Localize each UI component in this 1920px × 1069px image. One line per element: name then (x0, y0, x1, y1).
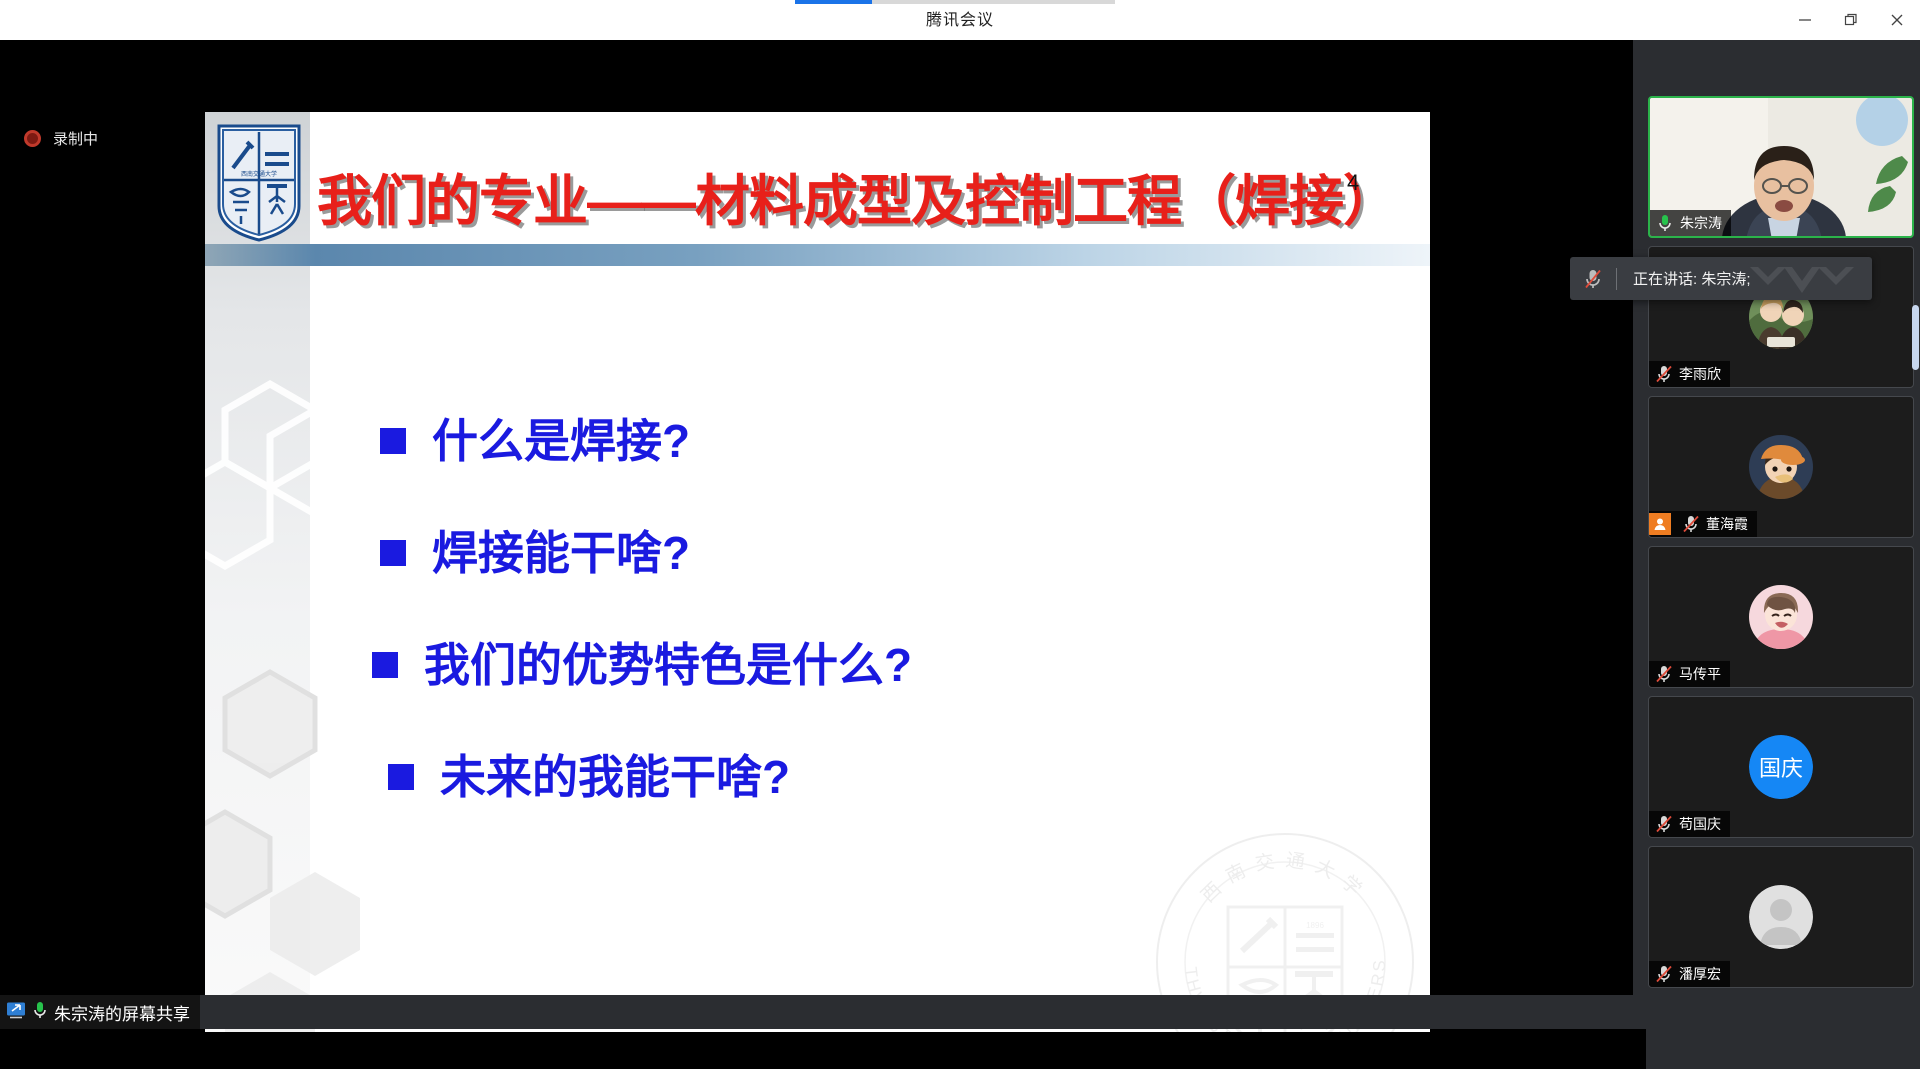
participant-name-chip: 马传平 (1649, 661, 1730, 687)
bullet-text: 我们的优势特色是什么? (424, 629, 912, 695)
svg-text:西南交通大学: 西南交通大学 (241, 170, 277, 178)
host-badge-icon (1649, 513, 1671, 535)
bullet-text: 未来的我能干啥? (440, 741, 790, 807)
participant-name-chip: 董海霞 (1649, 511, 1757, 537)
window-title-bar: 腾讯会议 (0, 0, 1920, 40)
screen-share-icon (6, 1001, 26, 1024)
recording-indicator: 录制中 (24, 128, 98, 149)
slide-title: 我们的专业——材料成型及控制工程（焊接） (317, 156, 1327, 246)
participant-name: 朱宗涛 (1680, 213, 1722, 233)
bullet-item: 我们的优势特色是什么? (372, 606, 1380, 718)
mic-muted-icon (1654, 814, 1674, 834)
participant-name: 董海霞 (1706, 514, 1748, 534)
bullet-text: 什么是焊接? (432, 405, 690, 471)
mic-muted-icon (1654, 364, 1674, 384)
window-title: 腾讯会议 (0, 0, 1920, 40)
participant-filmstrip[interactable]: 朱宗涛 (1646, 80, 1920, 1069)
recording-label: 录制中 (53, 128, 98, 149)
speaking-toast-text: 正在讲话: 朱宗涛; (1617, 268, 1751, 289)
bullet-item: 未来的我能干啥? (388, 718, 1380, 830)
mic-on-icon (31, 1000, 49, 1025)
mic-muted-icon (1654, 664, 1674, 684)
presentation-slide: 西南交通大学 我们的专业——材料成型及控制工程（焊接） 4 什么是焊接? 焊接能… (205, 112, 1430, 1032)
slide-page-number: 4 (1347, 170, 1359, 196)
svg-text:1896: 1896 (1306, 921, 1324, 930)
avatar: 国庆 (1749, 735, 1813, 799)
bullet-item: 什么是焊接? (380, 382, 1380, 494)
taskbar: 朱宗涛的屏幕共享 (0, 995, 1920, 1029)
participant-tile[interactable]: 朱宗涛 (1648, 96, 1914, 238)
close-icon[interactable] (1874, 0, 1920, 40)
participant-tile[interactable]: 国庆 苟国庆 (1648, 696, 1914, 838)
mic-muted-icon (1570, 257, 1616, 300)
bullet-square-icon (380, 540, 406, 566)
bullet-square-icon (388, 764, 414, 790)
avatar (1749, 435, 1813, 499)
participant-name: 潘厚宏 (1679, 964, 1721, 984)
mic-muted-icon (1654, 964, 1674, 984)
shared-screen-stage: 录制中 (0, 40, 1633, 995)
record-dot-icon (24, 130, 41, 147)
bullet-text: 焊接能干啥? (432, 517, 690, 583)
chevron-decoration-icon (1740, 265, 1860, 300)
southwest-jiaotong-university-logo: 西南交通大学 (213, 122, 305, 244)
speaking-toast: 正在讲话: 朱宗涛; (1570, 257, 1872, 300)
slide-bullet-list: 什么是焊接? 焊接能干啥? 我们的优势特色是什么? 未来的我能干啥? (380, 382, 1380, 830)
avatar-initials: 国庆 (1749, 735, 1813, 799)
mic-muted-icon (1681, 514, 1701, 534)
bullet-square-icon (372, 652, 398, 678)
screen-share-indicator[interactable]: 朱宗涛的屏幕共享 (0, 995, 200, 1029)
slide-title-underbar (205, 244, 1430, 266)
screen-share-label: 朱宗涛的屏幕共享 (54, 1000, 190, 1025)
minimize-icon[interactable] (1782, 0, 1828, 40)
app-body: 录制中 (0, 40, 1920, 1029)
window-controls (1782, 0, 1920, 40)
participant-tile[interactable]: 潘厚宏 (1648, 846, 1914, 988)
participant-name-chip: 潘厚宏 (1649, 961, 1730, 987)
filmstrip-scrollbar[interactable] (1912, 305, 1919, 370)
participant-name-chip: 朱宗涛 (1650, 210, 1731, 236)
participant-name-chip: 李雨欣 (1649, 361, 1730, 387)
avatar (1749, 585, 1813, 649)
restore-icon[interactable] (1828, 0, 1874, 40)
participant-tile[interactable]: 董海霞 (1648, 396, 1914, 538)
participant-name: 李雨欣 (1679, 364, 1721, 384)
participant-name-chip: 苟国庆 (1649, 811, 1730, 837)
participant-name: 马传平 (1679, 664, 1721, 684)
participant-name: 苟国庆 (1679, 814, 1721, 834)
bullet-item: 焊接能干啥? (380, 494, 1380, 606)
bullet-square-icon (380, 428, 406, 454)
participant-tile[interactable]: 马传平 (1648, 546, 1914, 688)
mic-on-icon (1655, 213, 1675, 233)
svg-text:西南交通大学: 西南交通大学 (1198, 849, 1373, 907)
avatar (1749, 885, 1813, 949)
